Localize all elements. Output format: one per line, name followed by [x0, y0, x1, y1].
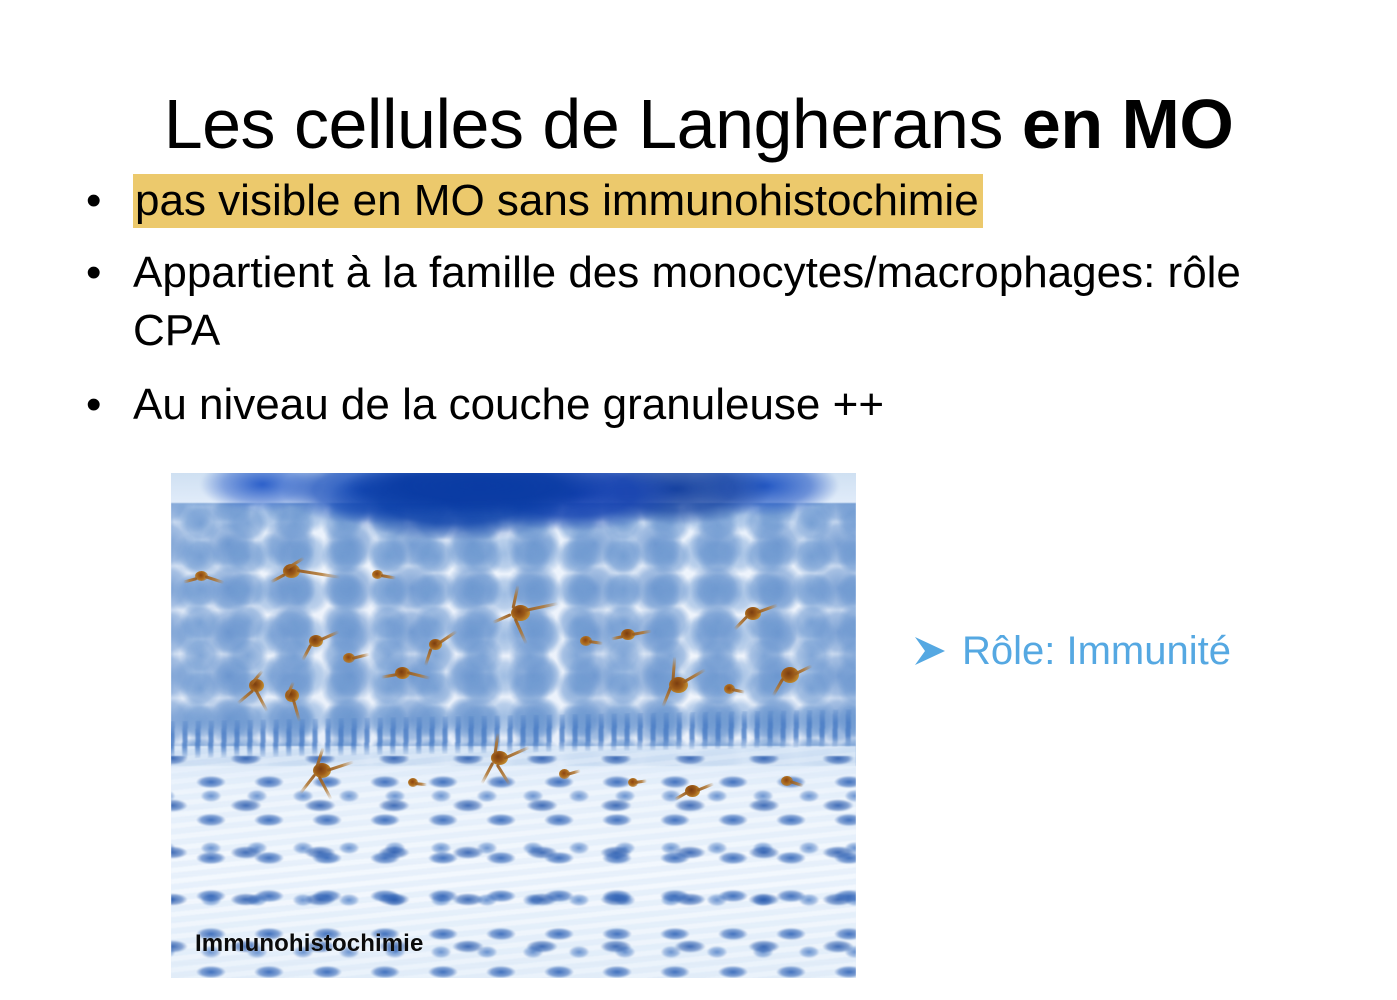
role-note-label: Rôle: Immunité	[962, 626, 1231, 676]
page-title-bold: en MO	[1022, 85, 1233, 163]
bullet-dot-icon: •	[76, 244, 133, 302]
langerhans-cell	[611, 621, 655, 649]
page-title-regular: Les cellules de Langherans	[164, 85, 1022, 163]
page-title: Les cellules de Langherans en MO	[0, 89, 1397, 159]
langerhans-cell	[471, 727, 535, 793]
langerhans-cell	[729, 593, 781, 637]
langerhans-cell	[553, 763, 583, 785]
arrowhead-right-icon	[912, 634, 948, 668]
langerhans-cell	[403, 773, 429, 791]
langerhans-cell	[761, 649, 817, 699]
parakeratosis-patch	[322, 473, 637, 513]
langerhans-cell	[671, 773, 717, 807]
histology-figure: Immunohistochimie	[171, 473, 856, 978]
highlight-span: pas visible en MO sans immunohistochimie	[133, 174, 983, 228]
slide: Les cellules de Langherans en MO • pas v…	[0, 0, 1397, 1000]
langerhans-cell	[651, 649, 711, 721]
list-item: • pas visible en MO sans immunohistochim…	[76, 172, 1306, 230]
langerhans-cell	[275, 679, 315, 735]
langerhans-cell	[337, 645, 371, 671]
langerhans-cell	[367, 565, 397, 583]
list-item: • Au niveau de la couche granuleuse ++	[76, 376, 1306, 434]
role-note: Rôle: Immunité	[912, 626, 1231, 676]
bullet-dot-icon: •	[76, 376, 133, 434]
bullet-list: • pas visible en MO sans immunohistochim…	[76, 172, 1306, 434]
figure-caption: Immunohistochimie	[195, 930, 423, 958]
list-item: • Appartient à la famille des monocytes/…	[76, 244, 1306, 360]
langerhans-cell	[189, 565, 223, 587]
langerhans-cell	[417, 623, 465, 673]
bullet-text: Au niveau de la couche granuleuse ++	[133, 376, 1306, 434]
langerhans-cell	[623, 773, 649, 791]
langerhans-cell	[267, 555, 345, 589]
bullet-dot-icon: •	[76, 172, 133, 230]
micrograph-image: Immunohistochimie	[171, 473, 856, 978]
langerhans-cell	[719, 679, 747, 699]
bullet-text-highlighted: pas visible en MO sans immunohistochimie	[133, 172, 1306, 230]
langerhans-cell	[575, 631, 605, 651]
langerhans-cell	[775, 769, 805, 793]
langerhans-cell	[289, 741, 359, 807]
langerhans-cell	[489, 581, 563, 647]
bullet-text: Appartient à la famille des monocytes/ma…	[133, 244, 1306, 360]
